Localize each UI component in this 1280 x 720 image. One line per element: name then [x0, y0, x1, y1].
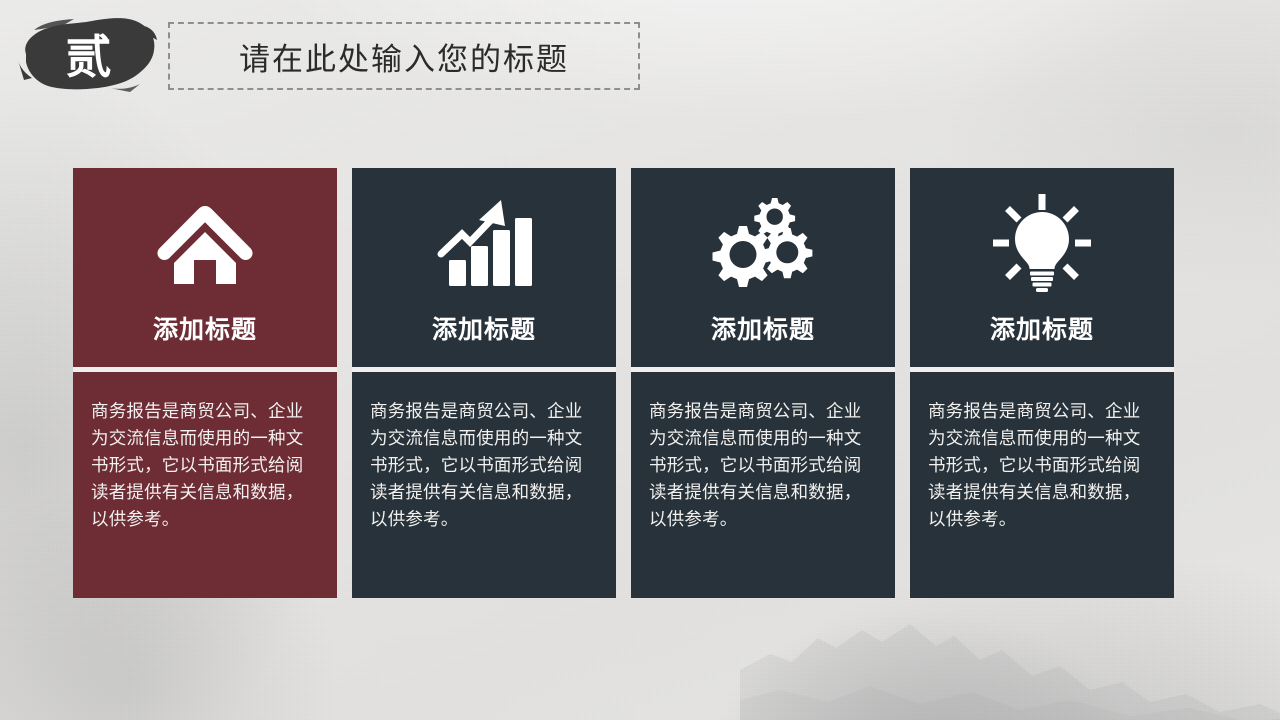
- card-description: 商务报告是商贸公司、企业为交流信息而使用的一种文书形式，它以书面形式给阅读者提供…: [91, 398, 319, 533]
- card-title: 添加标题: [432, 310, 536, 346]
- card-header: 添加标题: [631, 168, 895, 367]
- slide-title-box[interactable]: 请在此处输入您的标题: [168, 22, 640, 90]
- card-body: 商务报告是商贸公司、企业为交流信息而使用的一种文书形式，它以书面形式给阅读者提供…: [73, 372, 337, 598]
- feature-card[interactable]: 添加标题 商务报告是商贸公司、企业为交流信息而使用的一种文书形式，它以书面形式给…: [73, 168, 337, 598]
- card-body: 商务报告是商贸公司、企业为交流信息而使用的一种文书形式，它以书面形式给阅读者提供…: [631, 372, 895, 598]
- gears-icon: [708, 190, 818, 294]
- feature-card-list: 添加标题 商务报告是商贸公司、企业为交流信息而使用的一种文书形式，它以书面形式给…: [73, 168, 1207, 598]
- section-number-badge: 贰: [14, 10, 160, 98]
- card-title: 添加标题: [153, 310, 257, 346]
- card-title: 添加标题: [990, 310, 1094, 346]
- home-icon: [150, 190, 260, 294]
- slide-header: 贰 请在此处输入您的标题: [0, 0, 1280, 110]
- section-number-text: 贰: [14, 10, 160, 98]
- feature-card[interactable]: 添加标题 商务报告是商贸公司、企业为交流信息而使用的一种文书形式，它以书面形式给…: [352, 168, 616, 598]
- card-header: 添加标题: [352, 168, 616, 367]
- card-body: 商务报告是商贸公司、企业为交流信息而使用的一种文书形式，它以书面形式给阅读者提供…: [910, 372, 1174, 598]
- bar-chart-growth-icon: [429, 190, 539, 294]
- lightbulb-idea-icon: [987, 190, 1097, 294]
- feature-card[interactable]: 添加标题 商务报告是商贸公司、企业为交流信息而使用的一种文书形式，它以书面形式给…: [910, 168, 1174, 598]
- card-header: 添加标题: [910, 168, 1174, 367]
- card-description: 商务报告是商贸公司、企业为交流信息而使用的一种文书形式，它以书面形式给阅读者提供…: [370, 398, 598, 533]
- card-title: 添加标题: [711, 310, 815, 346]
- card-body: 商务报告是商贸公司、企业为交流信息而使用的一种文书形式，它以书面形式给阅读者提供…: [352, 372, 616, 598]
- card-description: 商务报告是商贸公司、企业为交流信息而使用的一种文书形式，它以书面形式给阅读者提供…: [928, 398, 1156, 533]
- slide-canvas: 贰 请在此处输入您的标题 添加标题 商务报告是商贸公司、企业为交流信息而使用的一…: [0, 0, 1280, 720]
- card-description: 商务报告是商贸公司、企业为交流信息而使用的一种文书形式，它以书面形式给阅读者提供…: [649, 398, 877, 533]
- feature-card[interactable]: 添加标题 商务报告是商贸公司、企业为交流信息而使用的一种文书形式，它以书面形式给…: [631, 168, 895, 598]
- card-header: 添加标题: [73, 168, 337, 367]
- page-title: 请在此处输入您的标题: [239, 34, 569, 79]
